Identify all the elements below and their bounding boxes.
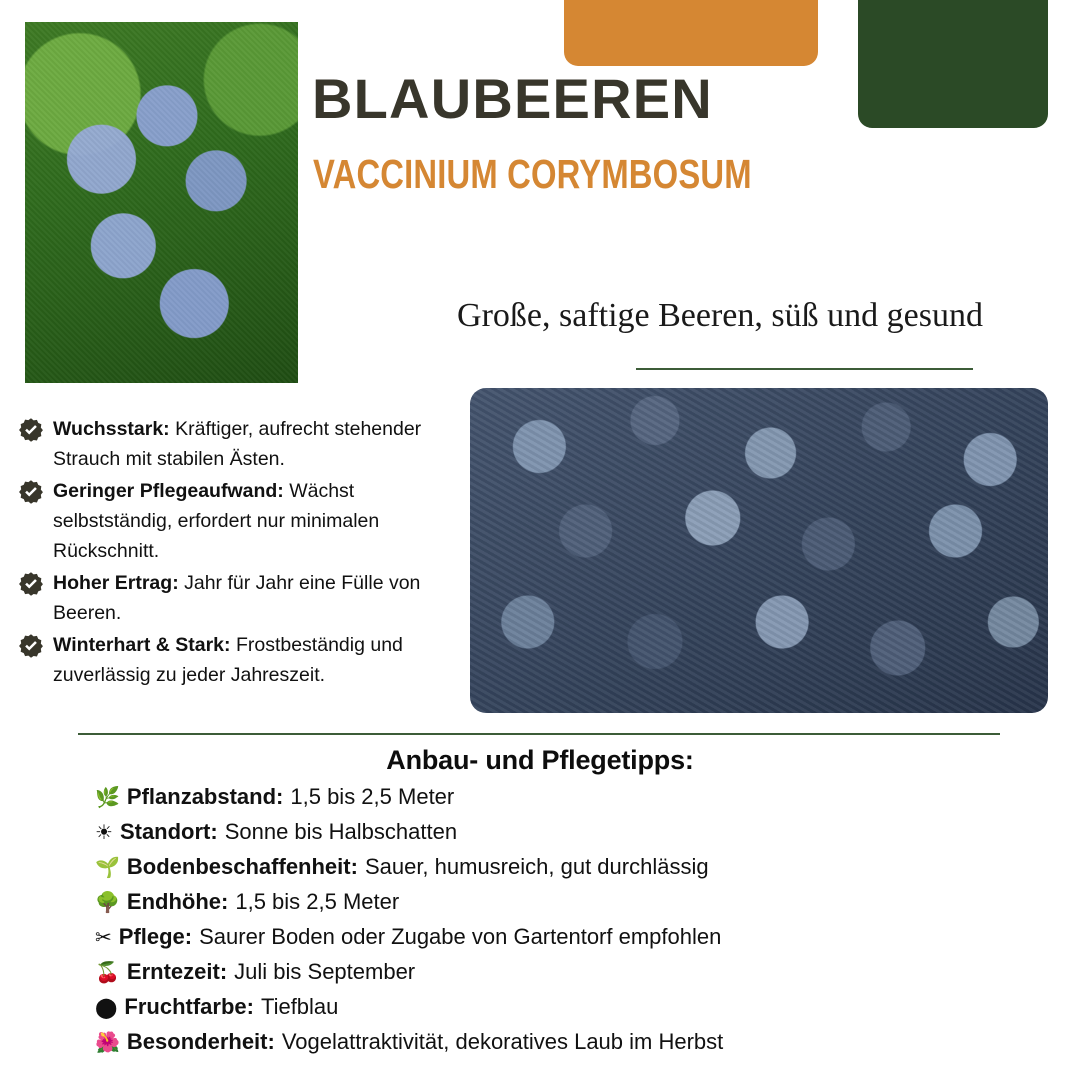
list-item: 🌳 Endhöhe: 1,5 bis 2,5 Meter — [95, 885, 995, 920]
list-item-label: Wuchsstark: — [53, 418, 170, 440]
list-item: 🍒 Erntezeit: Juli bis September — [95, 955, 995, 990]
list-item-value: 1,5 bis 2,5 Meter — [235, 885, 399, 918]
decorative-orange-block — [564, 0, 818, 66]
seedling-icon: 🌱 — [95, 852, 120, 885]
list-item: 🌿 Pflanzabstand: 1,5 bis 2,5 Meter — [95, 780, 995, 815]
list-item-label: Pflanzabstand: — [127, 780, 283, 813]
list-item-value: Juli bis September — [234, 955, 415, 988]
photo-texture-overlay — [25, 22, 298, 383]
list-item-text: Wuchsstark: Kräftiger, aufrecht stehende… — [53, 414, 470, 474]
tips-heading: Anbau- und Pflegetipps: — [0, 745, 1080, 776]
sun-icon: ☀ — [95, 817, 113, 850]
list-item-value: Sauer, humusreich, gut durchlässig — [365, 850, 709, 883]
list-item-label: Besonderheit: — [127, 1025, 275, 1058]
check-badge-icon — [18, 479, 44, 505]
list-item-label: Erntezeit: — [127, 955, 227, 988]
check-badge-icon — [18, 571, 44, 597]
tagline: Große, saftige Beeren, süß und gesund — [420, 296, 1020, 336]
list-item-text: Geringer Pflegeaufwand: Wächst selbststä… — [53, 476, 470, 566]
list-item: Winterhart & Stark: Frostbeständig und z… — [18, 630, 470, 690]
hero-blueberry-bush-image — [25, 22, 298, 383]
latin-name: VACCINIUM CORYMBOSUM — [313, 152, 752, 196]
list-item-value: Saurer Boden oder Zugabe von Gartentorf … — [199, 920, 721, 953]
list-item-value: Sonne bis Halbschatten — [225, 815, 457, 848]
list-item-label: Fruchtfarbe: — [124, 990, 254, 1023]
list-item: Geringer Pflegeaufwand: Wächst selbststä… — [18, 476, 470, 566]
hibiscus-icon: 🌺 — [95, 1027, 120, 1060]
scissors-icon: ✂ — [95, 922, 112, 955]
photo-texture-overlay — [470, 388, 1048, 713]
blueberries-closeup-image — [470, 388, 1048, 713]
list-item-value: 1,5 bis 2,5 Meter — [290, 780, 454, 813]
page-title: BLAUBEEREN — [312, 70, 713, 128]
list-item: Wuchsstark: Kräftiger, aufrecht stehende… — [18, 414, 470, 474]
list-item-label: Bodenbeschaffenheit: — [127, 850, 358, 883]
list-item-value: Tiefblau — [261, 990, 338, 1023]
list-item-value: Vogelattraktivität, dekoratives Laub im … — [282, 1025, 723, 1058]
list-item-label: Standort: — [120, 815, 218, 848]
list-item-label: Geringer Pflegeaufwand: — [53, 480, 284, 502]
check-badge-icon — [18, 633, 44, 659]
list-item-label: Pflege: — [119, 920, 192, 953]
decorative-green-block — [858, 0, 1048, 128]
list-item: ✂ Pflege: Saurer Boden oder Zugabe von G… — [95, 920, 995, 955]
list-item-text: Winterhart & Stark: Frostbeständig und z… — [53, 630, 470, 690]
list-item-text: Hoher Ertrag: Jahr für Jahr eine Fülle v… — [53, 568, 470, 628]
cherries-icon: 🍒 — [95, 957, 120, 990]
list-item: 🌱 Bodenbeschaffenheit: Sauer, humusreich… — [95, 850, 995, 885]
list-item: Hoher Ertrag: Jahr für Jahr eine Fülle v… — [18, 568, 470, 628]
check-badge-icon — [18, 417, 44, 443]
list-item: 🌺 Besonderheit: Vogelattraktivität, deko… — [95, 1025, 995, 1060]
tips-list: 🌿 Pflanzabstand: 1,5 bis 2,5 Meter ☀ Sta… — [95, 780, 995, 1060]
list-item: ☀ Standort: Sonne bis Halbschatten — [95, 815, 995, 850]
tagline-divider — [636, 368, 973, 370]
feature-list: Wuchsstark: Kräftiger, aufrecht stehende… — [18, 414, 470, 692]
list-item-label: Hoher Ertrag: — [53, 572, 179, 594]
herb-icon: 🌿 — [95, 782, 120, 815]
list-item-label: Winterhart & Stark: — [53, 634, 231, 656]
black-circle-icon: ⬤ — [95, 992, 117, 1025]
list-item: ⬤ Fruchtfarbe: Tiefblau — [95, 990, 995, 1025]
tips-divider — [78, 733, 1000, 735]
tree-icon: 🌳 — [95, 887, 120, 920]
list-item-label: Endhöhe: — [127, 885, 228, 918]
